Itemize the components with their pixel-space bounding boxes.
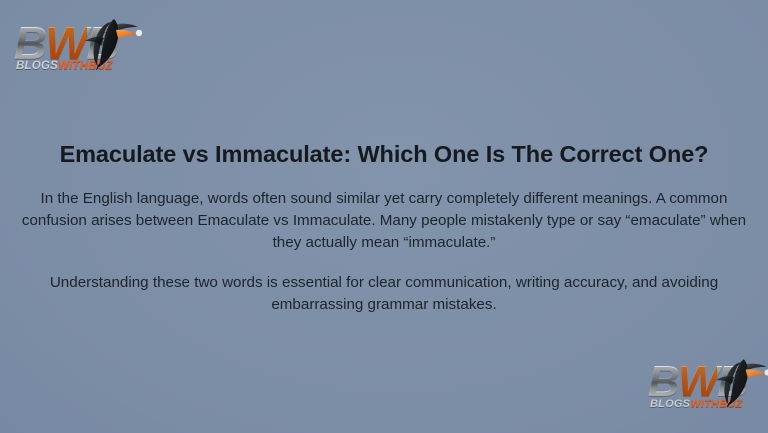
article-paragraph-2: Understanding these two words is essenti… [14, 272, 754, 316]
brand-tagline-accent: WITHBUZ [58, 60, 113, 72]
brand-wordmark: BWB [14, 22, 118, 64]
brand-logo-watermark: BWB BLOGSWITHBUZ [648, 362, 747, 410]
article-body: In the English language, words often sou… [14, 188, 754, 316]
watermark-tagline-primary: BLOGS [650, 398, 690, 410]
article-paragraph-1: In the English language, words often sou… [14, 188, 754, 254]
watermark-tagline: BLOGSWITHBUZ [650, 399, 747, 410]
article-header-graphic: BWB BLOGSWITHBUZ [0, 0, 768, 433]
watermark-wordmark: BWB [648, 362, 747, 402]
brand-tagline: BLOGSWITHBUZ [16, 61, 118, 73]
brand-tagline-primary: BLOGS [16, 60, 58, 72]
watermark-tagline-accent: WITHBUZ [690, 398, 742, 410]
page-title: Emaculate vs Immaculate: Which One Is Th… [0, 140, 768, 169]
brand-logo[interactable]: BWB BLOGSWITHBUZ [14, 22, 118, 73]
